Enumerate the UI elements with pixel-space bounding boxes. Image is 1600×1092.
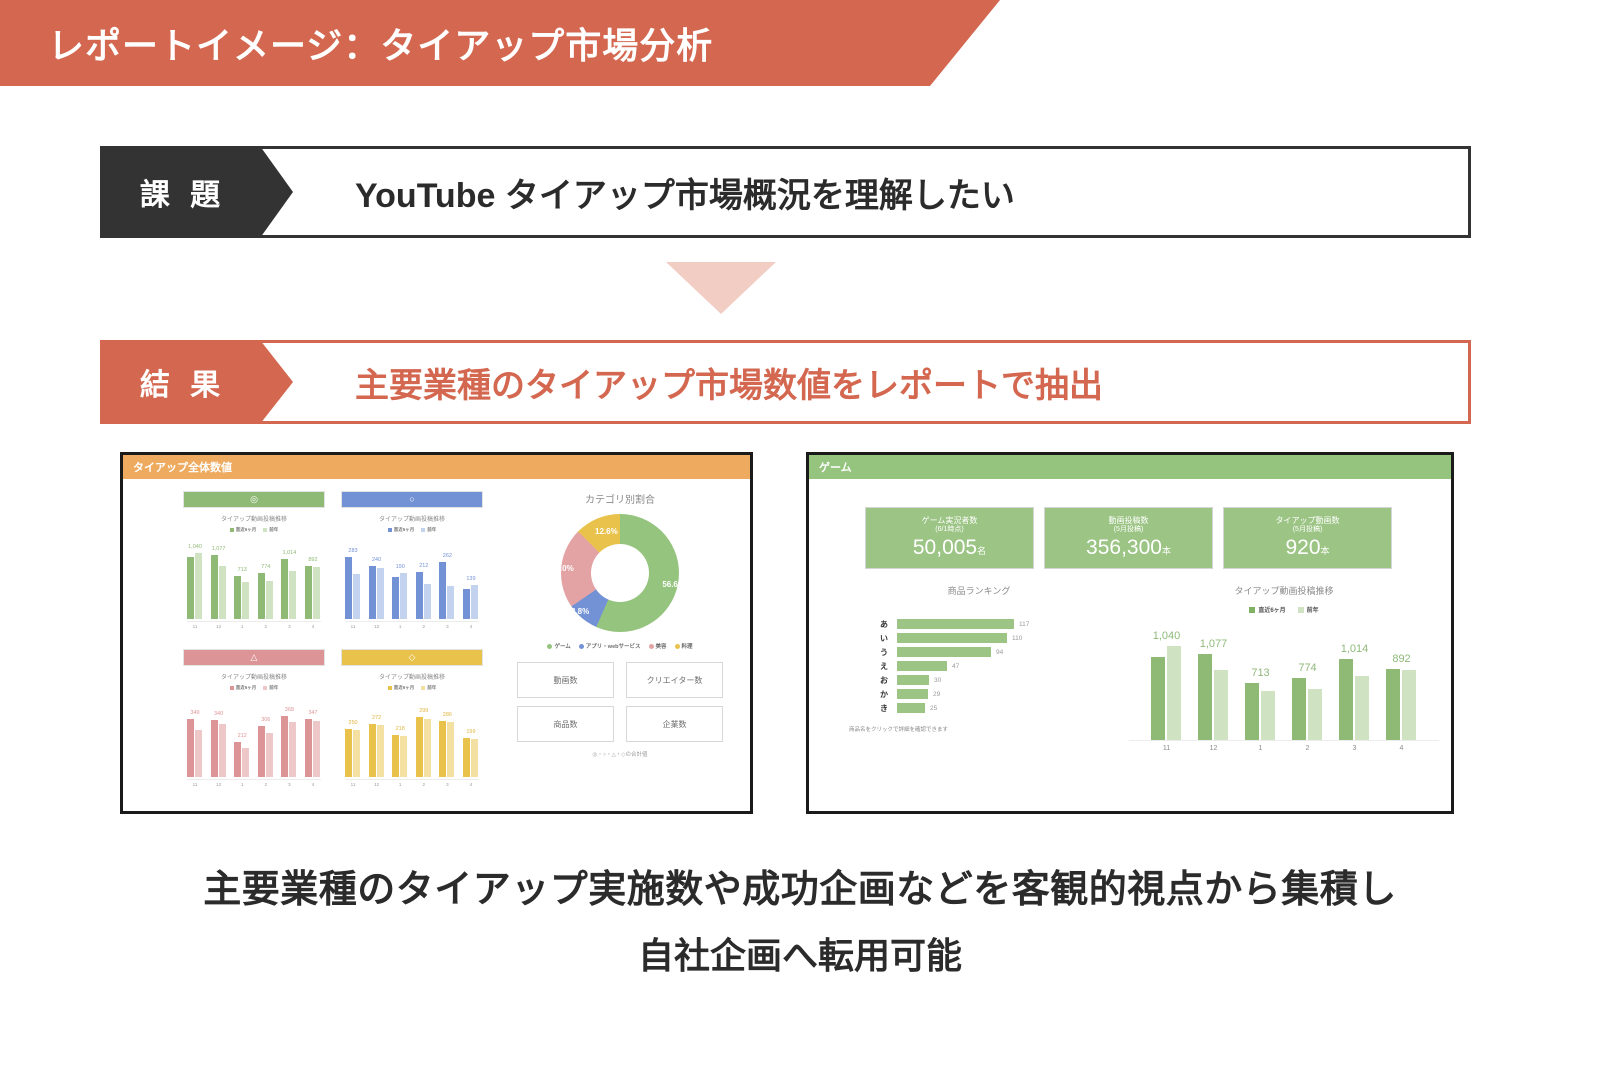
ranking-row[interactable]: い 110 bbox=[849, 631, 1109, 645]
bar-value: 774 bbox=[1298, 662, 1316, 674]
bar-value: 272 bbox=[372, 715, 381, 721]
ranking-bar bbox=[897, 661, 947, 671]
bar-value: 349 bbox=[190, 710, 199, 716]
slide-title-banner: レポートイメージ：タイアップ市場分析 bbox=[0, 0, 1000, 86]
mini-chart-grid: ◎ タイアップ動画投稿推移 直近6ヶ月 前年 1,040 1,077 713 7… bbox=[183, 491, 483, 791]
result-row: 結 果 主要業種のタイアップ市場数値をレポートで抽出 bbox=[100, 340, 1471, 424]
ranking-value: 30 bbox=[934, 677, 941, 684]
axis-tick: 2 bbox=[258, 624, 274, 629]
kpi-card-row: ゲーム実況者数 (6/1時点) 50,005名 動画投稿数 (5月投稿) 356… bbox=[865, 507, 1392, 569]
axis-tick: 11 bbox=[345, 624, 361, 629]
tieup-trend-panel: タイアップ動画投稿推移 直近6ヶ月 前年 1,040 1,077 713 774… bbox=[1129, 584, 1439, 752]
donut-legend: ゲーム アプリ・webサービス 美容 料理 bbox=[501, 642, 739, 650]
donut-label-beauty: 22.0% bbox=[551, 564, 574, 573]
legend-previous: 前年 bbox=[427, 685, 436, 691]
legend-previous: 前年 bbox=[269, 527, 278, 533]
kpi-button-creator-count[interactable]: クリエイター数 bbox=[626, 662, 723, 698]
bar-value: 1,040 bbox=[188, 544, 202, 550]
dashboard-game-header: ゲーム bbox=[809, 455, 1451, 479]
legend-previous: 前年 bbox=[1307, 605, 1319, 614]
dashboard-overall: タイアップ全体数値 ◎ タイアップ動画投稿推移 直近6ヶ月 前年 1,040 1… bbox=[120, 452, 753, 814]
axis-tick: 3 bbox=[1339, 745, 1371, 752]
kpi-card-name: 動画投稿数 bbox=[1109, 516, 1149, 526]
axis-tick: 11 bbox=[345, 782, 361, 787]
mini-chart-bars: 250 272 218 299 286 199 bbox=[345, 705, 479, 777]
dashboard-overall-header: タイアップ全体数値 bbox=[123, 455, 750, 479]
axis-tick: 4 bbox=[463, 782, 479, 787]
bar-value: 892 bbox=[1392, 653, 1410, 665]
legend-recent: 直近6ヶ月 bbox=[394, 685, 415, 691]
ranking-bar bbox=[897, 675, 929, 685]
kpi-card-video-posts[interactable]: 動画投稿数 (5月投稿) 356,300本 bbox=[1044, 507, 1213, 569]
ranking-label[interactable]: あ bbox=[849, 619, 897, 630]
ranking-bar bbox=[897, 703, 925, 713]
product-ranking-panel: 商品ランキング あ 117 い 110 う 94 え bbox=[849, 584, 1109, 733]
caption-line-2: 自社企画へ転用可能 bbox=[0, 927, 1600, 979]
axis-tick: 3 bbox=[281, 782, 297, 787]
bar-value: 1,014 bbox=[282, 550, 296, 556]
bar-value: 368 bbox=[285, 707, 294, 713]
bar-value: 306 bbox=[261, 717, 270, 723]
legend-recent: 直近6ヶ月 bbox=[394, 527, 415, 533]
kpi-button-video-count[interactable]: 動画数 bbox=[517, 662, 614, 698]
ranking-value: 117 bbox=[1019, 621, 1029, 628]
donut-legend-item: アプリ・webサービス bbox=[586, 642, 641, 650]
donut-label-app: 8.8% bbox=[571, 607, 589, 616]
down-arrow-icon bbox=[666, 262, 776, 314]
bar-value: 286 bbox=[443, 712, 452, 718]
ranking-row[interactable]: か 29 bbox=[849, 687, 1109, 701]
axis-tick: 12 bbox=[211, 624, 227, 629]
badge-triangle-icon[interactable]: △ bbox=[183, 649, 325, 666]
ranking-label[interactable]: か bbox=[849, 689, 897, 700]
kpi-card-unit: 名 bbox=[977, 546, 986, 556]
issue-row: 課 題 YouTube タイアップ市場概況を理解したい bbox=[100, 146, 1471, 238]
axis-tick: 11 bbox=[187, 782, 203, 787]
axis-tick: 1 bbox=[392, 782, 408, 787]
mini-chart-axis: 11 12 1 2 3 4 bbox=[187, 779, 321, 787]
bar-value: 1,077 bbox=[212, 546, 226, 552]
mini-chart-title: タイアップ動画投稿推移 bbox=[183, 672, 325, 681]
kpi-card-value: 356,300 bbox=[1086, 536, 1162, 559]
bar-value: 713 bbox=[238, 567, 247, 573]
axis-tick: 12 bbox=[369, 624, 385, 629]
ranking-label[interactable]: い bbox=[849, 633, 897, 644]
axis-tick: 3 bbox=[439, 624, 455, 629]
bar-value: 212 bbox=[238, 733, 247, 739]
axis-tick: 3 bbox=[281, 624, 297, 629]
ranking-label[interactable]: う bbox=[849, 647, 897, 658]
mini-chart-legend: 直近6ヶ月 前年 bbox=[183, 685, 325, 691]
kpi-card-value: 50,005 bbox=[913, 536, 977, 559]
mini-chart-axis: 11 12 1 2 3 4 bbox=[187, 621, 321, 629]
kpi-button-product-count[interactable]: 商品数 bbox=[517, 706, 614, 742]
donut-legend-item: 美容 bbox=[656, 642, 667, 650]
kpi-card-sub: (5月投稿) bbox=[1114, 526, 1144, 535]
donut-hole bbox=[591, 544, 649, 602]
axis-tick: 4 bbox=[305, 624, 321, 629]
ranking-value: 25 bbox=[930, 705, 937, 712]
ranking-label[interactable]: え bbox=[849, 661, 897, 672]
kpi-button-company-count[interactable]: 企業数 bbox=[626, 706, 723, 742]
issue-text: YouTube タイアップ市場概況を理解したい bbox=[260, 146, 1471, 238]
ranking-bar bbox=[897, 689, 928, 699]
mini-chart-blue[interactable]: ○ タイアップ動画投稿推移 直近6ヶ月 前年 283 240 190 212 2… bbox=[341, 491, 483, 633]
axis-tick: 1 bbox=[392, 624, 408, 629]
mini-chart-legend: 直近6ヶ月 前年 bbox=[183, 527, 325, 533]
axis-tick: 1 bbox=[234, 782, 250, 787]
mini-chart-bars: 349 340 212 306 368 347 bbox=[187, 705, 321, 777]
bar-value: 1,077 bbox=[1200, 638, 1228, 650]
slide-title: レポートイメージ：タイアップ市場分析 bbox=[48, 17, 713, 69]
axis-tick: 4 bbox=[305, 782, 321, 787]
dashboard-game-footnote: 商品名をクリックで詳細を確認できます bbox=[849, 725, 1109, 733]
ranking-row[interactable]: え 47 bbox=[849, 659, 1109, 673]
result-label: 結 果 bbox=[100, 340, 260, 424]
ranking-row[interactable]: う 94 bbox=[849, 645, 1109, 659]
bar-value: 190 bbox=[396, 564, 405, 570]
badge-circle-icon[interactable]: ○ bbox=[341, 491, 483, 508]
bar-value: 240 bbox=[372, 557, 381, 563]
bar-value: 1,014 bbox=[1341, 643, 1369, 655]
kpi-card-sub: (6/1時点) bbox=[935, 526, 963, 535]
tieup-trend-legend: 直近6ヶ月 前年 bbox=[1129, 605, 1439, 614]
donut-chart-title: カテゴリ別割合 bbox=[501, 491, 739, 506]
legend-previous: 前年 bbox=[269, 685, 278, 691]
bar-value: 892 bbox=[308, 557, 317, 563]
donut-chart[interactable]: 56.6% 8.8% 22.0% 12.6% bbox=[561, 514, 679, 632]
axis-tick: 3 bbox=[439, 782, 455, 787]
ranking-row[interactable]: お 30 bbox=[849, 673, 1109, 687]
ranking-row[interactable]: あ 117 bbox=[849, 617, 1109, 631]
axis-tick: 1 bbox=[1245, 745, 1277, 752]
axis-tick: 1 bbox=[234, 624, 250, 629]
axis-tick: 2 bbox=[1292, 745, 1324, 752]
bar-value: 283 bbox=[348, 548, 357, 554]
bar-value: 774 bbox=[261, 564, 270, 570]
result-text: 主要業種のタイアップ市場数値をレポートで抽出 bbox=[260, 340, 1471, 424]
mini-chart-legend: 直近6ヶ月 前年 bbox=[341, 685, 483, 691]
issue-label: 課 題 bbox=[100, 146, 260, 238]
ranking-label[interactable]: お bbox=[849, 675, 897, 686]
axis-tick: 4 bbox=[1386, 745, 1418, 752]
axis-tick: 11 bbox=[1151, 745, 1183, 752]
tieup-trend-bars: 1,040 1,077 713 774 1,014 892 bbox=[1129, 628, 1439, 740]
mini-chart-axis: 11 12 1 2 3 4 bbox=[345, 621, 479, 629]
category-breakdown-panel: カテゴリ別割合 56.6% 8.8% 22.0% 12.6% ゲーム アプリ・w… bbox=[501, 485, 739, 805]
mini-chart-bars: 283 240 190 212 262 139 bbox=[345, 547, 479, 619]
kpi-card-name: タイアップ動画数 bbox=[1276, 516, 1340, 526]
ranking-value: 29 bbox=[933, 691, 940, 698]
ranking-row[interactable]: き 25 bbox=[849, 701, 1109, 715]
ranking-value: 94 bbox=[996, 649, 1003, 656]
axis-tick: 11 bbox=[187, 624, 203, 629]
legend-recent: 直近6ヶ月 bbox=[236, 685, 257, 691]
axis-tick: 2 bbox=[258, 782, 274, 787]
ranking-bar bbox=[897, 633, 1007, 643]
kpi-card-tieup-videos[interactable]: タイアップ動画数 (5月投稿) 920本 bbox=[1223, 507, 1392, 569]
bar-value: 250 bbox=[348, 720, 357, 726]
bar-value: 299 bbox=[419, 708, 428, 714]
kpi-card-value: 920 bbox=[1285, 536, 1320, 559]
ranking-value: 47 bbox=[952, 663, 959, 670]
bar-value: 713 bbox=[1251, 667, 1269, 679]
product-ranking-title: 商品ランキング bbox=[849, 584, 1109, 597]
legend-previous: 前年 bbox=[427, 527, 436, 533]
bar-value: 262 bbox=[443, 553, 452, 559]
bar-value: 139 bbox=[466, 576, 475, 582]
axis-tick: 12 bbox=[1198, 745, 1230, 752]
axis-tick: 12 bbox=[211, 782, 227, 787]
mini-chart-green[interactable]: ◎ タイアップ動画投稿推移 直近6ヶ月 前年 1,040 1,077 713 7… bbox=[183, 491, 325, 633]
mini-chart-title: タイアップ動画投稿推移 bbox=[183, 514, 325, 523]
dashboard-overall-footnote: ◎・○・△・◇の合計値 bbox=[501, 750, 739, 758]
kpi-card-streamers[interactable]: ゲーム実況者数 (6/1時点) 50,005名 bbox=[865, 507, 1034, 569]
legend-recent: 直近6ヶ月 bbox=[1258, 605, 1285, 614]
tieup-trend-title: タイアップ動画投稿推移 bbox=[1129, 584, 1439, 597]
donut-legend-item: ゲーム bbox=[554, 642, 570, 650]
dashboard-game: ゲーム ゲーム実況者数 (6/1時点) 50,005名 動画投稿数 (5月投稿)… bbox=[806, 452, 1454, 814]
axis-tick: 2 bbox=[416, 624, 432, 629]
kpi-card-unit: 本 bbox=[1321, 546, 1330, 556]
donut-label-game: 56.6% bbox=[662, 580, 685, 589]
kpi-button-grid: 動画数 クリエイター数 商品数 企業数 bbox=[517, 662, 723, 742]
product-ranking-rows: あ 117 い 110 う 94 え 47 bbox=[849, 617, 1109, 715]
bar-value: 199 bbox=[466, 729, 475, 735]
mini-chart-pink[interactable]: △ タイアップ動画投稿推移 直近6ヶ月 前年 349 340 212 306 3… bbox=[183, 649, 325, 791]
ranking-bar bbox=[897, 619, 1014, 629]
ranking-value: 110 bbox=[1012, 635, 1022, 642]
donut-label-cooking: 12.6% bbox=[595, 527, 618, 536]
mini-chart-yellow[interactable]: ◇ タイアップ動画投稿推移 直近6ヶ月 前年 250 272 218 299 2… bbox=[341, 649, 483, 791]
mini-chart-bars: 1,040 1,077 713 774 1,014 892 bbox=[187, 547, 321, 619]
donut-legend-item: 料理 bbox=[682, 642, 693, 650]
kpi-card-sub: (5月投稿) bbox=[1293, 526, 1323, 535]
bottom-caption: 主要業種のタイアップ実施数や成功企画などを客観的視点から集積し 自社企画へ転用可… bbox=[0, 858, 1600, 979]
badge-double-circle-icon[interactable]: ◎ bbox=[183, 491, 325, 508]
axis-tick: 4 bbox=[463, 624, 479, 629]
tieup-trend-axis: 11 12 1 2 3 4 bbox=[1129, 740, 1439, 752]
caption-line-1: 主要業種のタイアップ実施数や成功企画などを客観的視点から集積し bbox=[0, 858, 1600, 913]
mini-chart-legend: 直近6ヶ月 前年 bbox=[341, 527, 483, 533]
ranking-bar bbox=[897, 647, 991, 657]
legend-recent: 直近6ヶ月 bbox=[236, 527, 257, 533]
bar-value: 347 bbox=[308, 710, 317, 716]
ranking-label[interactable]: き bbox=[849, 703, 897, 714]
axis-tick: 12 bbox=[369, 782, 385, 787]
bar-value: 340 bbox=[214, 711, 223, 717]
bar-value: 218 bbox=[396, 726, 405, 732]
bar-value: 212 bbox=[419, 563, 428, 569]
axis-tick: 2 bbox=[416, 782, 432, 787]
bar-value: 1,040 bbox=[1153, 630, 1181, 642]
kpi-card-unit: 本 bbox=[1162, 546, 1171, 556]
mini-chart-title: タイアップ動画投稿推移 bbox=[341, 514, 483, 523]
badge-diamond-icon[interactable]: ◇ bbox=[341, 649, 483, 666]
mini-chart-axis: 11 12 1 2 3 4 bbox=[345, 779, 479, 787]
mini-chart-title: タイアップ動画投稿推移 bbox=[341, 672, 483, 681]
kpi-card-name: ゲーム実況者数 bbox=[922, 516, 978, 526]
